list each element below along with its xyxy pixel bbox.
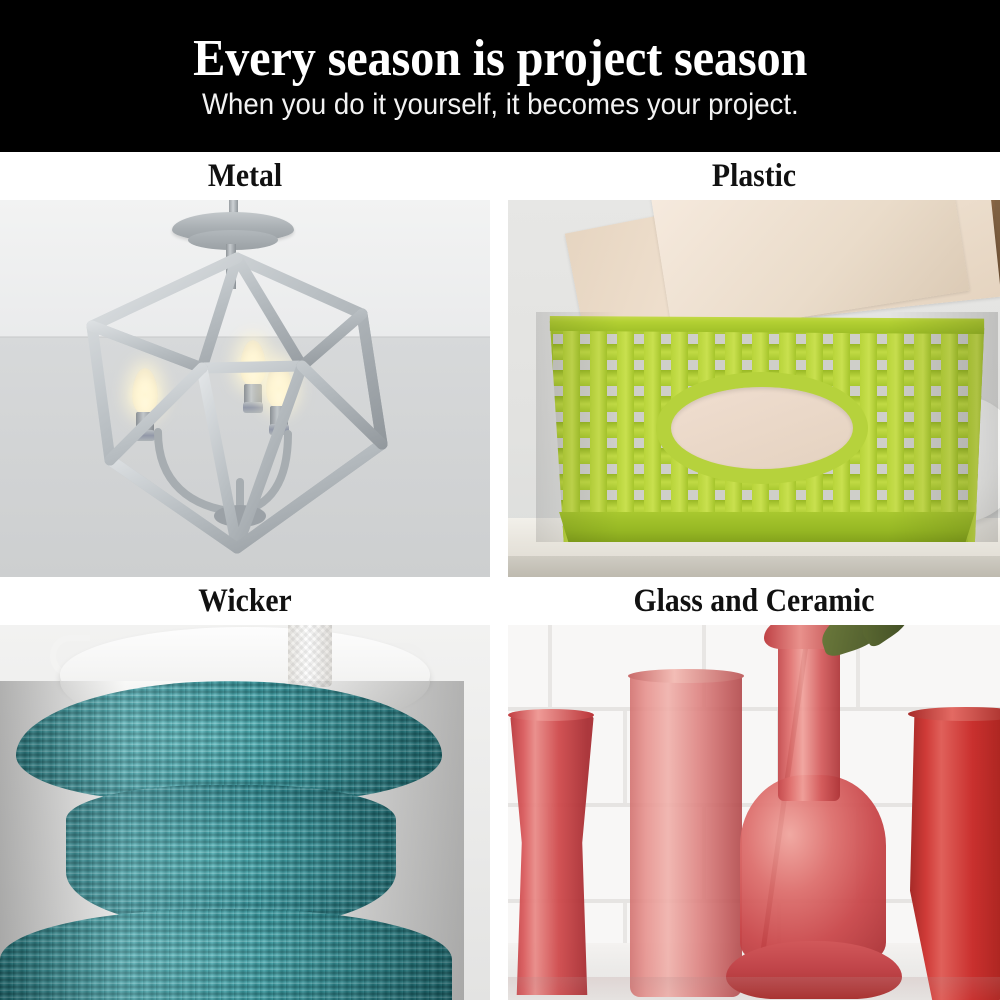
category-grid: Metal: [0, 152, 1000, 1000]
pink-cylinder-vase: [630, 673, 742, 997]
category-label-glass-and-ceramic: Glass and Ceramic: [533, 577, 976, 625]
category-card-glass-and-ceramic[interactable]: Glass and Ceramic: [508, 577, 1000, 1000]
stool-upper-bulb: [16, 681, 442, 801]
promo-collage: Every season is project season When you …: [0, 0, 1000, 1000]
plastic-basket-photo: [508, 200, 1000, 577]
stool-lower-bulb: [0, 909, 452, 1000]
geometric-cage-frame: [62, 248, 412, 558]
tile-row: [508, 625, 1000, 711]
wicker-stool-photo: [0, 625, 490, 1000]
page-subtitle: When you do it yourself, it becomes your…: [202, 89, 799, 121]
category-image-glass-and-ceramic: [508, 625, 1000, 1000]
red-tapered-vase-rim: [508, 709, 594, 721]
deep-red-tumbler-vase: [910, 711, 1000, 1000]
category-card-wicker[interactable]: Wicker: [0, 577, 490, 1000]
page-title: Every season is project season: [193, 32, 807, 85]
metal-lamp-photo: [0, 200, 490, 577]
glass-vases-photo: [508, 625, 1000, 1000]
teal-wicker-stool: [0, 681, 464, 1000]
white-textured-vase: [288, 625, 332, 687]
red-tapered-vase: [510, 713, 594, 995]
basket-handle-cutout: [656, 372, 868, 484]
vase-shadows: [508, 977, 1000, 1000]
header-banner: Every season is project season When you …: [0, 0, 1000, 152]
category-image-plastic: [508, 200, 1000, 577]
green-storage-basket: [536, 312, 998, 542]
category-label-metal: Metal: [25, 152, 466, 200]
red-bottle-vase-body: [740, 775, 886, 961]
category-label-plastic: Plastic: [533, 152, 976, 200]
shelf-edge: [508, 556, 1000, 577]
category-image-metal: [0, 200, 490, 577]
category-card-metal[interactable]: Metal: [0, 152, 490, 577]
category-card-plastic[interactable]: Plastic: [508, 152, 1000, 577]
category-label-wicker: Wicker: [25, 577, 466, 625]
pink-cylinder-vase-rim: [628, 669, 744, 683]
basket-base: [536, 512, 998, 542]
category-image-wicker: [0, 625, 490, 1000]
basket-rim: [536, 312, 998, 334]
